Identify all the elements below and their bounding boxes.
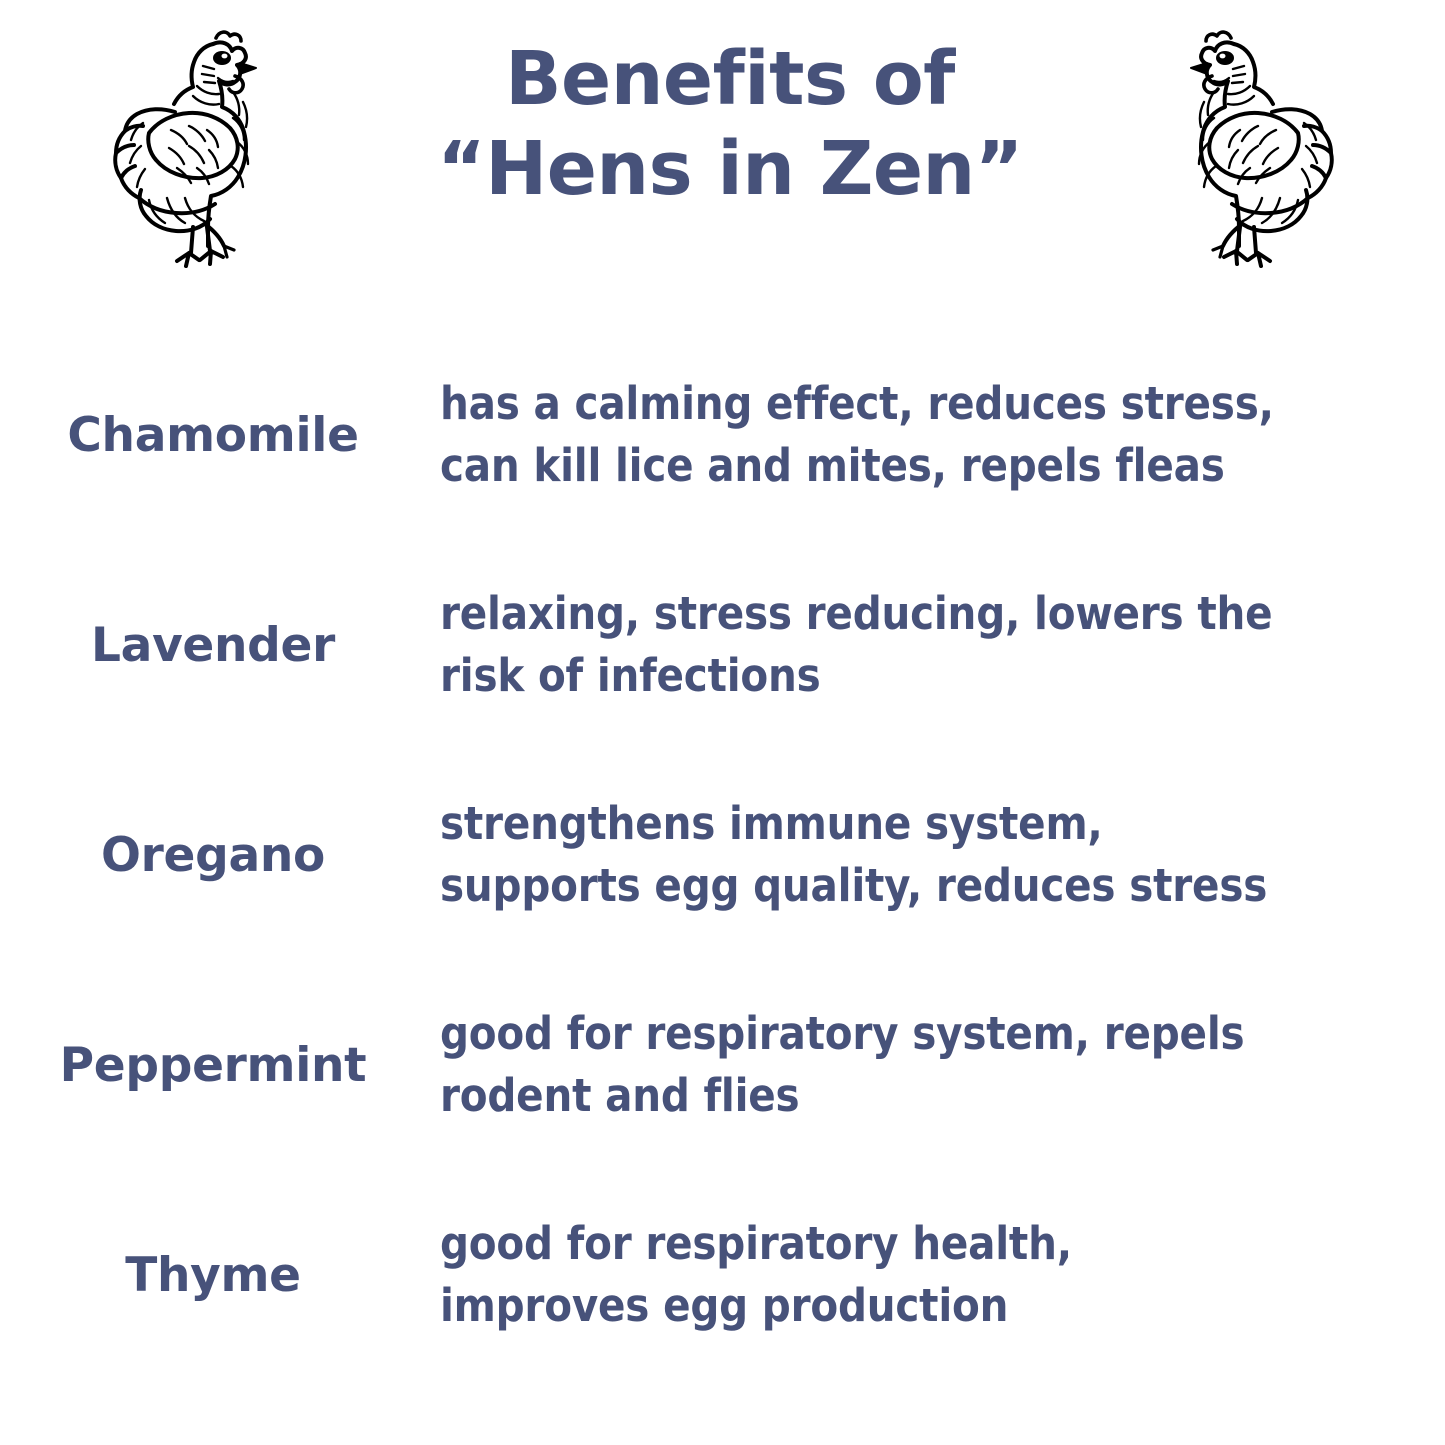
description-line: supports egg quality, reduces stress [440, 855, 1405, 917]
herb-name-thyme: Thyme [0, 1248, 440, 1303]
herb-description-oregano: strengthens immune system, supports egg … [440, 793, 1445, 917]
benefits-list: Chamomile has a calming effect, reduces … [0, 330, 1445, 1380]
benefit-row: Chamomile has a calming effect, reduces … [0, 330, 1445, 540]
herb-description-thyme: good for respiratory health, improves eg… [440, 1213, 1445, 1337]
description-line: risk of infections [440, 645, 1405, 707]
description-line: has a calming effect, reduces stress, [440, 373, 1405, 435]
description-line: good for respiratory system, repels [440, 1003, 1405, 1065]
title-line-2: “Hens in Zen” [360, 124, 1100, 214]
header: Benefits of “Hens in Zen” [0, 0, 1445, 300]
description-line: can kill lice and mites, repels fleas [440, 435, 1405, 497]
benefit-row: Lavender relaxing, stress reducing, lowe… [0, 540, 1445, 750]
description-line: relaxing, stress reducing, lowers the [440, 583, 1405, 645]
description-line: strengthens immune system, [440, 793, 1405, 855]
benefit-row: Thyme good for respiratory health, impro… [0, 1170, 1445, 1380]
herb-description-peppermint: good for respiratory system, repels rode… [440, 1003, 1445, 1127]
infographic-page: Benefits of “Hens in Zen” [0, 0, 1445, 1445]
hen-illustration-right [1162, 22, 1362, 272]
herb-name-peppermint: Peppermint [0, 1038, 440, 1093]
herb-name-oregano: Oregano [0, 828, 440, 883]
hen-illustration-left [85, 22, 285, 272]
herb-name-lavender: Lavender [0, 618, 440, 673]
description-line: good for respiratory health, [440, 1213, 1405, 1275]
description-line: improves egg production [440, 1275, 1405, 1337]
title-line-1: Benefits of [360, 34, 1100, 124]
description-line: rodent and flies [440, 1065, 1405, 1127]
benefit-row: Oregano strengthens immune system, suppo… [0, 750, 1445, 960]
page-title: Benefits of “Hens in Zen” [360, 34, 1100, 215]
herb-description-lavender: relaxing, stress reducing, lowers the ri… [440, 583, 1445, 707]
herb-name-chamomile: Chamomile [0, 408, 440, 463]
benefit-row: Peppermint good for respiratory system, … [0, 960, 1445, 1170]
herb-description-chamomile: has a calming effect, reduces stress, ca… [440, 373, 1445, 497]
